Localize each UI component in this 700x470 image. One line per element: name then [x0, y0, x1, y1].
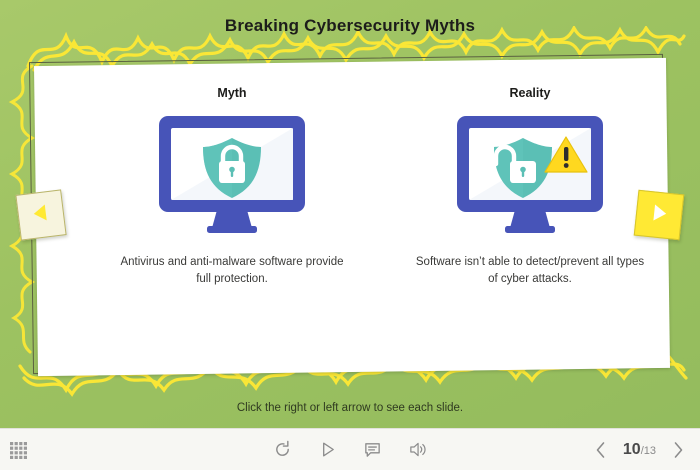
- volume-button[interactable]: [408, 440, 427, 459]
- replay-button[interactable]: [273, 440, 292, 459]
- column-myth: Myth: [82, 86, 382, 287]
- instruction-text: Click the right or left arrow to see eac…: [0, 402, 700, 414]
- triangle-left-icon: [28, 200, 53, 229]
- notes-button[interactable]: [363, 440, 382, 459]
- player-toolbar: 10/13: [0, 428, 700, 470]
- page-title: Breaking Cybersecurity Myths: [0, 16, 700, 36]
- page-indicator: 10/13: [623, 441, 656, 459]
- grid-menu-icon[interactable]: [8, 440, 28, 460]
- column-reality-heading: Reality: [380, 86, 680, 100]
- triangle-right-icon: [647, 200, 672, 229]
- column-myth-heading: Myth: [82, 86, 382, 100]
- play-button[interactable]: [318, 440, 337, 459]
- page-total: /13: [641, 445, 656, 457]
- column-reality: Reality: [380, 86, 680, 287]
- toolbar-next-button[interactable]: [670, 441, 686, 459]
- monitor-shield-locked-icon: [82, 114, 382, 242]
- column-myth-caption: Antivirus and anti-malware software prov…: [82, 254, 382, 287]
- toolbar-prev-button[interactable]: [593, 441, 609, 459]
- content-card: Myth: [34, 58, 670, 376]
- prev-slide-button[interactable]: [15, 189, 66, 240]
- page-current: 10: [623, 441, 641, 459]
- column-reality-caption: Software isn’t able to detect/prevent al…: [380, 254, 680, 287]
- next-slide-button[interactable]: [634, 190, 685, 241]
- slide-stage: Breaking Cybersecurity Myths Myth: [0, 0, 700, 470]
